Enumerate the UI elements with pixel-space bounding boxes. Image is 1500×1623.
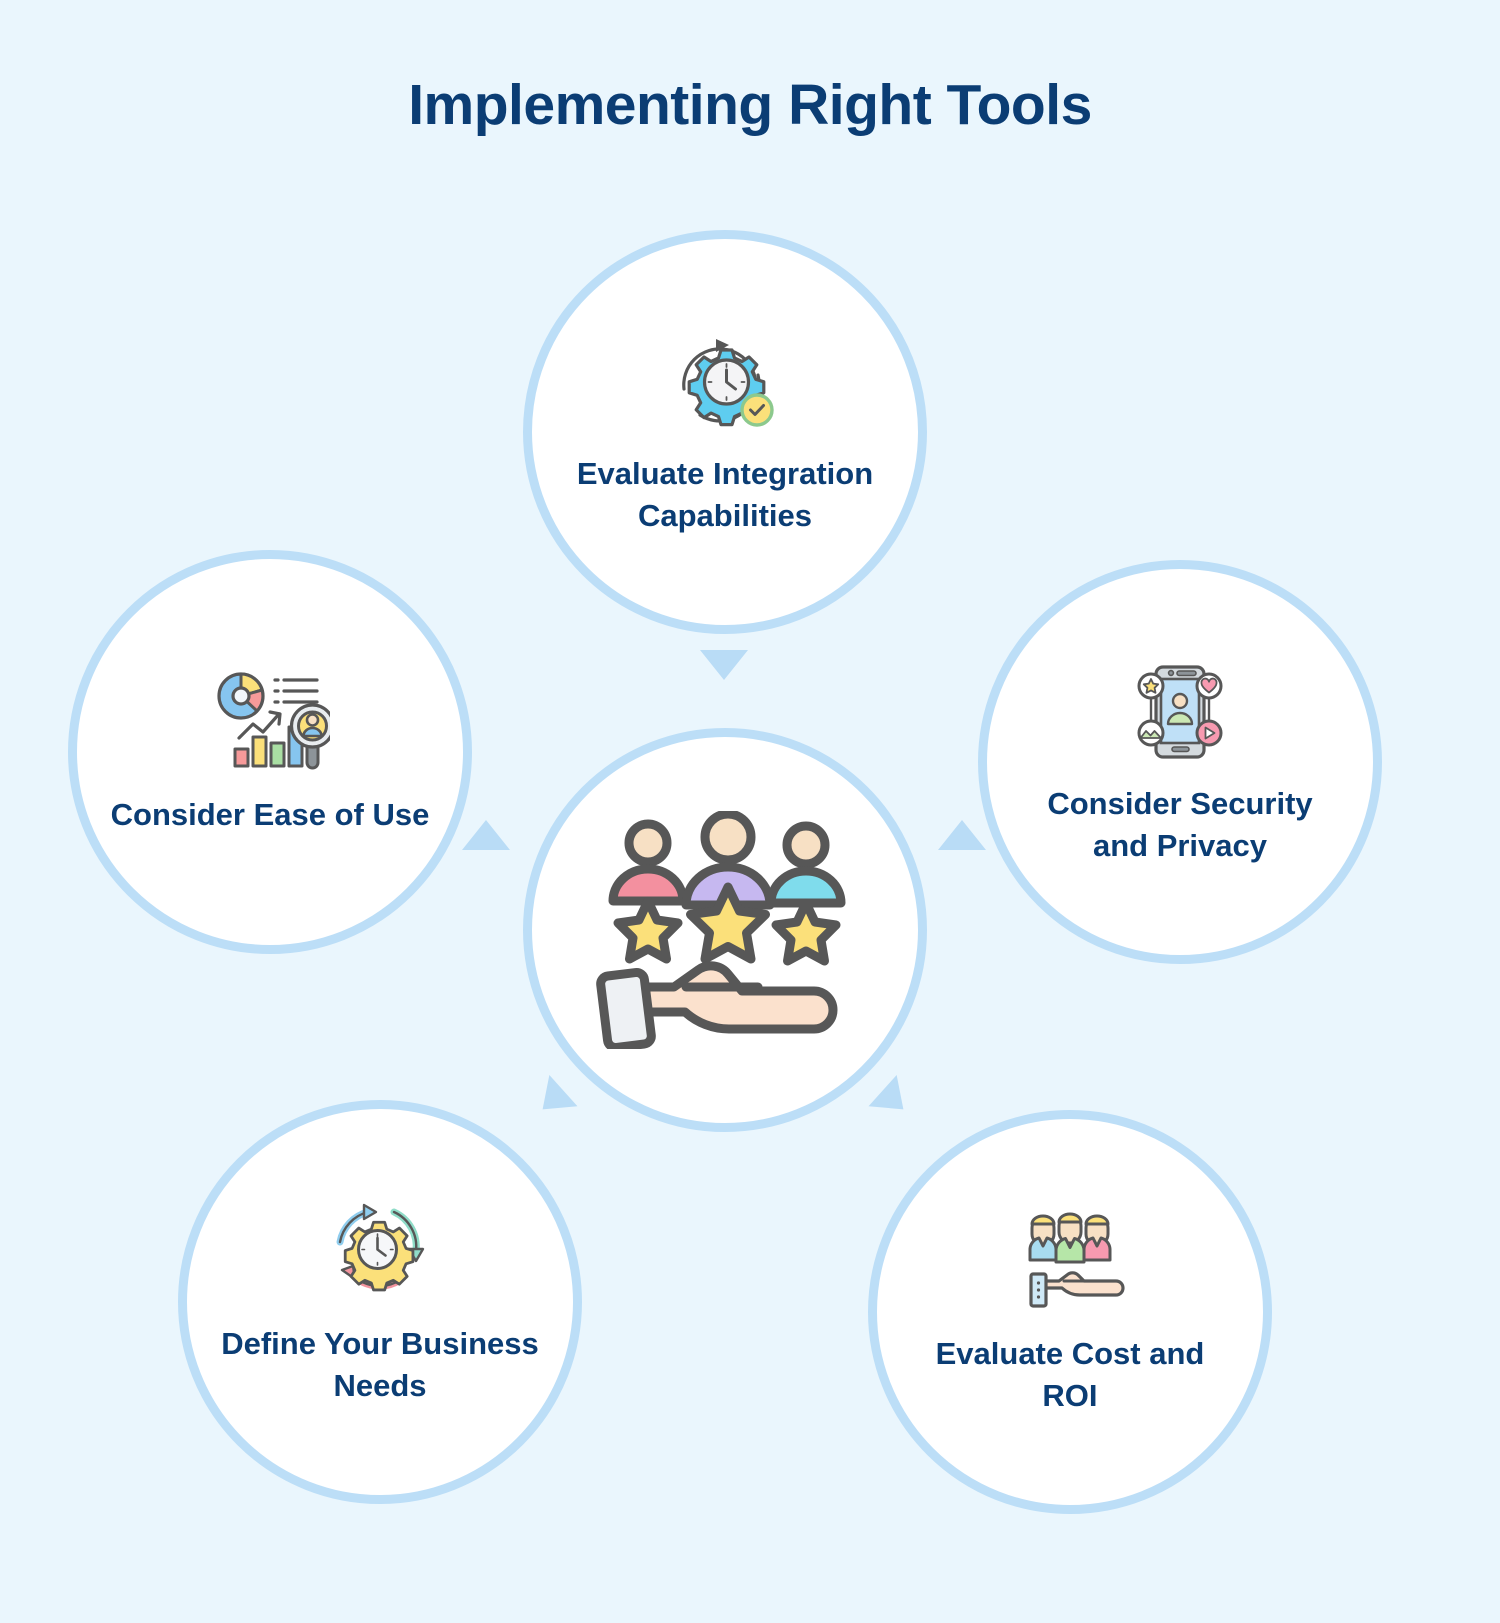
node-label: Define Your Business Needs [218,1323,542,1407]
connector-arrow-left [462,820,510,850]
page-title: Implementing Right Tools [0,72,1500,138]
node-label: Evaluate Integration Capabilities [563,453,887,537]
node-consider-ease-of-use[interactable]: Consider Ease of Use [68,550,472,954]
gear-clock-check-icon [660,327,790,437]
node-evaluate-cost-and-roi[interactable]: Evaluate Cost and ROI [868,1110,1272,1514]
node-label: Consider Security and Privacy [1018,783,1342,867]
node-label: Evaluate Cost and ROI [908,1333,1232,1417]
people-on-hand-icon [1005,1207,1135,1317]
node-evaluate-integration-capabilities[interactable]: Evaluate Integration Capabilities [523,230,927,634]
smartphone-social-icon [1115,657,1245,767]
people-stars-on-hand-icon [575,805,875,1055]
analytics-magnifier-icon [205,668,335,778]
gear-clock-arrows-icon [315,1197,445,1307]
connector-arrow-top [700,650,748,680]
node-label: Consider Ease of Use [108,794,432,836]
connector-arrow-right [938,820,986,850]
connector-arrow-bottom-right [869,1075,918,1125]
node-center-people-stars-on-hand[interactable] [523,728,927,1132]
infographic-canvas: Implementing Right Tools [0,0,1500,1623]
node-consider-security-and-privacy[interactable]: Consider Security and Privacy [978,560,1382,964]
connector-arrow-bottom-left [529,1075,578,1125]
node-define-your-business-needs[interactable]: Define Your Business Needs [178,1100,582,1504]
